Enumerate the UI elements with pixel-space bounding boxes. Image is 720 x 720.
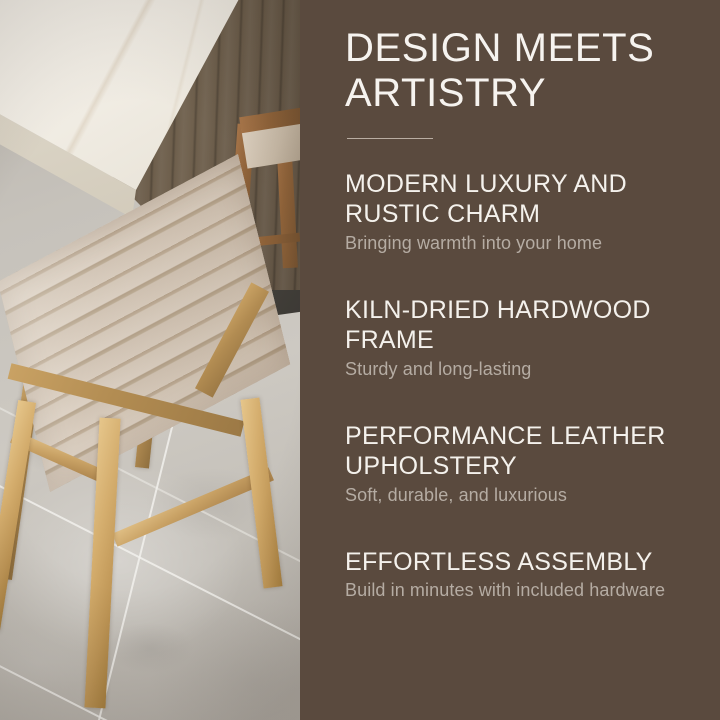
feature-subtitle: Build in minutes with included hardware	[345, 579, 700, 602]
feature-item-kiln-dried-frame: KILN-DRIED HARDWOOD FRAME Sturdy and lon…	[345, 295, 700, 381]
product-photo	[0, 0, 300, 720]
feature-list-panel: DESIGN MEETS ARTISTRY MODERN LUXURY AND …	[300, 0, 720, 720]
page-title: DESIGN MEETS ARTISTRY	[345, 26, 700, 116]
feature-item-leather-upholstery: PERFORMANCE LEATHER UPHOLSTERY Soft, dur…	[345, 421, 700, 507]
product-feature-infographic: DESIGN MEETS ARTISTRY MODERN LUXURY AND …	[0, 0, 720, 720]
title-divider	[347, 138, 433, 139]
feature-item-effortless-assembly: EFFORTLESS ASSEMBLY Build in minutes wit…	[345, 547, 700, 603]
feature-title: PERFORMANCE LEATHER UPHOLSTERY	[345, 421, 700, 482]
feature-list: MODERN LUXURY AND RUSTIC CHARM Bringing …	[345, 169, 700, 603]
feature-title: KILN-DRIED HARDWOOD FRAME	[345, 295, 700, 356]
feature-title: MODERN LUXURY AND RUSTIC CHARM	[345, 169, 700, 230]
feature-subtitle: Sturdy and long-lasting	[345, 358, 700, 381]
feature-title: EFFORTLESS ASSEMBLY	[345, 547, 700, 578]
feature-subtitle: Bringing warmth into your home	[345, 232, 700, 255]
feature-item-modern-luxury: MODERN LUXURY AND RUSTIC CHARM Bringing …	[345, 169, 700, 255]
feature-subtitle: Soft, durable, and luxurious	[345, 484, 700, 507]
